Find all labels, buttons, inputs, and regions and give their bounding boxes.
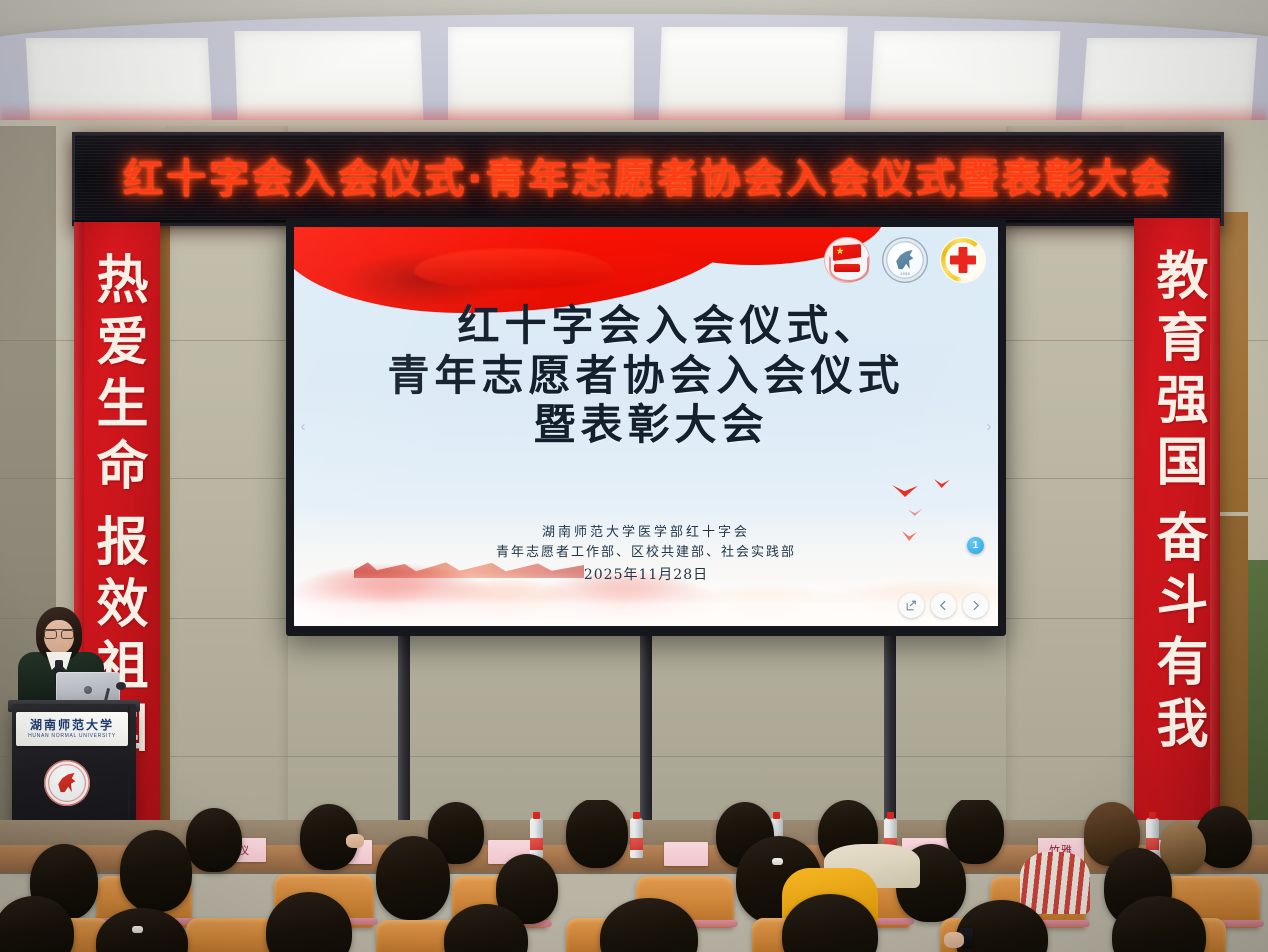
red-cross-logo xyxy=(940,237,986,283)
chevron-left-icon xyxy=(937,599,950,612)
slide-title-line3: 暨表彰大会 xyxy=(294,400,998,450)
red-cross-icon-bar xyxy=(950,256,976,265)
audience-head xyxy=(566,800,628,868)
slide-next-side-arrow[interactable]: › xyxy=(982,416,996,438)
audience-head xyxy=(376,836,450,920)
phoenix-icon xyxy=(895,249,915,270)
wall-seam xyxy=(0,756,1268,757)
vertical-banner-right: 教育强国 奋斗有我 xyxy=(1134,218,1220,866)
next-slide-button[interactable] xyxy=(963,593,988,618)
flying-bird-icon xyxy=(892,485,918,497)
share-icon xyxy=(905,599,918,612)
microphone-head xyxy=(116,682,126,690)
slide-title-line1: 红十字会入会仪式、 xyxy=(294,301,998,351)
flying-bird-icon xyxy=(934,479,950,488)
vertical-banner-left-text: 热爱生命 xyxy=(90,252,144,500)
wall-panel-right xyxy=(1006,126,1124,826)
banner-shape xyxy=(834,264,860,272)
slide-title: 红十字会入会仪式、 青年志愿者协会入会仪式 暨表彰大会 xyxy=(294,301,998,450)
audience-head xyxy=(120,830,192,912)
led-banner-text: 红十字会入会仪式·青年志愿者协会入会仪式暨表彰大会 xyxy=(123,159,1173,199)
laptop-logo-icon xyxy=(84,686,92,694)
podium-nameplate: 湖南师范大学 HUNAN NORMAL UNIVERSITY xyxy=(16,712,128,746)
slide-page-badge: 1 xyxy=(967,537,984,554)
slide-subtitle-block: 湖南师范大学医学部红十字会 青年志愿者工作部、区校共建部、社会实践部 2025年… xyxy=(294,523,998,586)
wall-panel-left xyxy=(166,126,288,826)
presentation-slide[interactable]: 1938 红十字会入会仪式、 青年志愿者协会入会仪式 暨表彰大会 xyxy=(294,227,998,626)
projection-screen-frame: 1938 红十字会入会仪式、 青年志愿者协会入会仪式 暨表彰大会 xyxy=(286,218,1006,636)
university-founding-year: 1938 xyxy=(882,271,928,276)
banner-fold xyxy=(1210,218,1220,866)
hair-clip xyxy=(132,926,143,933)
slide-navigation-bar[interactable] xyxy=(899,593,988,618)
hair-clip xyxy=(772,858,783,865)
audience-area xyxy=(0,800,1268,952)
slide-subtitle-departments: 青年志愿者工作部、区校共建部、社会实践部 xyxy=(294,543,998,563)
audience-shoulders xyxy=(1020,852,1090,914)
podium-university-name-cn: 湖南师范大学 xyxy=(30,719,114,731)
slide-prev-side-arrow[interactable]: ‹ xyxy=(296,416,310,438)
red-ribbon-decoration-3 xyxy=(414,249,614,289)
slide-title-line2: 青年志愿者协会入会仪式 xyxy=(294,351,998,401)
led-banner: 红十字会入会仪式·青年志愿者协会入会仪式暨表彰大会 xyxy=(72,132,1224,226)
eyeglasses-icon xyxy=(44,629,74,638)
audience-head xyxy=(186,808,242,872)
vertical-banner-right-text2: 奋斗有我 xyxy=(1150,510,1204,758)
podium-university-name-en: HUNAN NORMAL UNIVERSITY xyxy=(28,734,116,739)
communist-youth-league-logo xyxy=(824,237,870,283)
phoenix-icon xyxy=(57,772,77,793)
slide-date: 2025年11月28日 xyxy=(294,564,998,586)
auditorium-photo: 红十字会入会仪式·青年志愿者协会入会仪式暨表彰大会 热爱生命 报效祖国 教育强国… xyxy=(0,0,1268,952)
logo-row: 1938 xyxy=(824,237,986,283)
slide-subtitle-org: 湖南师范大学医学部红十字会 xyxy=(294,523,998,543)
prev-slide-button[interactable] xyxy=(931,593,956,618)
audience-hand xyxy=(346,834,364,848)
share-button[interactable] xyxy=(899,593,924,618)
chevron-right-icon xyxy=(969,599,982,612)
vertical-banner-right-text: 教育强国 xyxy=(1150,248,1204,496)
hunan-normal-university-logo: 1938 xyxy=(882,237,928,283)
audience-hand xyxy=(944,932,964,948)
